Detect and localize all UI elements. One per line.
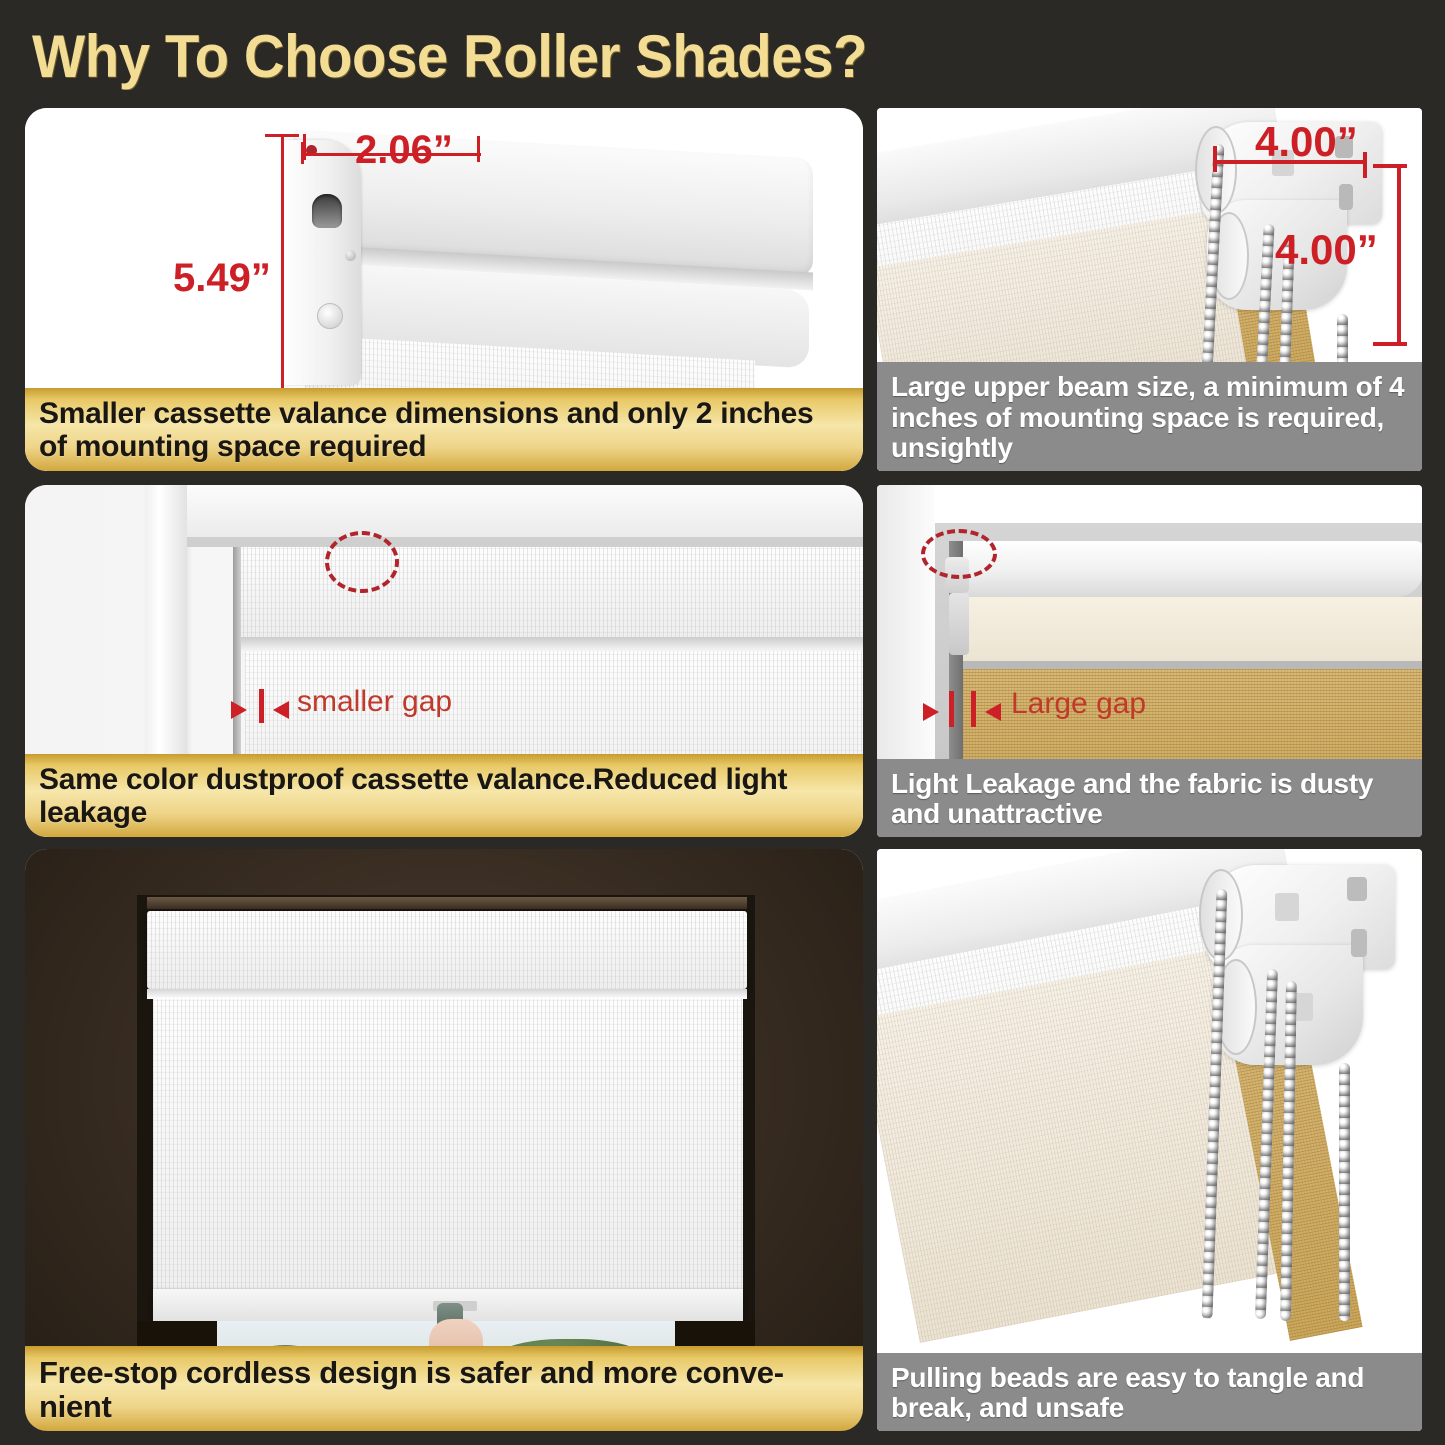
large-gap-label: Large gap bbox=[1011, 687, 1146, 721]
panel-free-stop-cordless: Free-stop cordless design is safer and m… bbox=[25, 849, 863, 1431]
height-dimension-value: 5.49” bbox=[173, 256, 271, 301]
panel-caption: Pulling beads are easy to tangle and bre… bbox=[877, 1353, 1422, 1431]
beam-width-dimension-value: 4.00” bbox=[1255, 118, 1358, 166]
panel-caption: Same color dustproof cassette valance.Re… bbox=[25, 754, 863, 837]
panel-caption: Large upper beam size, a minimum of 4 in… bbox=[877, 362, 1422, 471]
panel-smaller-cassette: 2.06” 2.06” 5.49” Smaller cassette valan… bbox=[25, 108, 863, 471]
callout-circle-icon bbox=[325, 531, 399, 593]
panel-pulling-beads: Pulling beads are easy to tangle and bre… bbox=[877, 849, 1422, 1431]
infographic-page: Why To Choose Roller Shades? bbox=[0, 0, 1445, 1445]
panel-light-leakage: Large gap Light Leakage and the fabric i… bbox=[877, 485, 1422, 837]
smaller-gap-label: smaller gap bbox=[297, 685, 452, 719]
beaded-chain-shade-image bbox=[877, 849, 1422, 1431]
bead-chain bbox=[1339, 1063, 1350, 1321]
callout-circle-icon bbox=[921, 529, 997, 579]
panel-large-upper-beam: 4.00” 4.00” Large upper beam size, a min… bbox=[877, 108, 1422, 471]
panel-caption: Smaller cassette valance dimensions and … bbox=[25, 388, 863, 471]
panel-dustproof-cassette: smaller gap Same color dustproof cassett… bbox=[25, 485, 863, 837]
room-window-shade-image bbox=[25, 849, 863, 1431]
page-title: Why To Choose Roller Shades? bbox=[32, 22, 867, 91]
width-dimension-value: 2.06” bbox=[355, 128, 453, 173]
panel-caption: Light Leakage and the fabric is dusty an… bbox=[877, 759, 1422, 837]
panel-caption: Free-stop cordless design is safer and m… bbox=[25, 1346, 863, 1431]
beam-height-dimension-value: 4.00” bbox=[1275, 226, 1378, 274]
